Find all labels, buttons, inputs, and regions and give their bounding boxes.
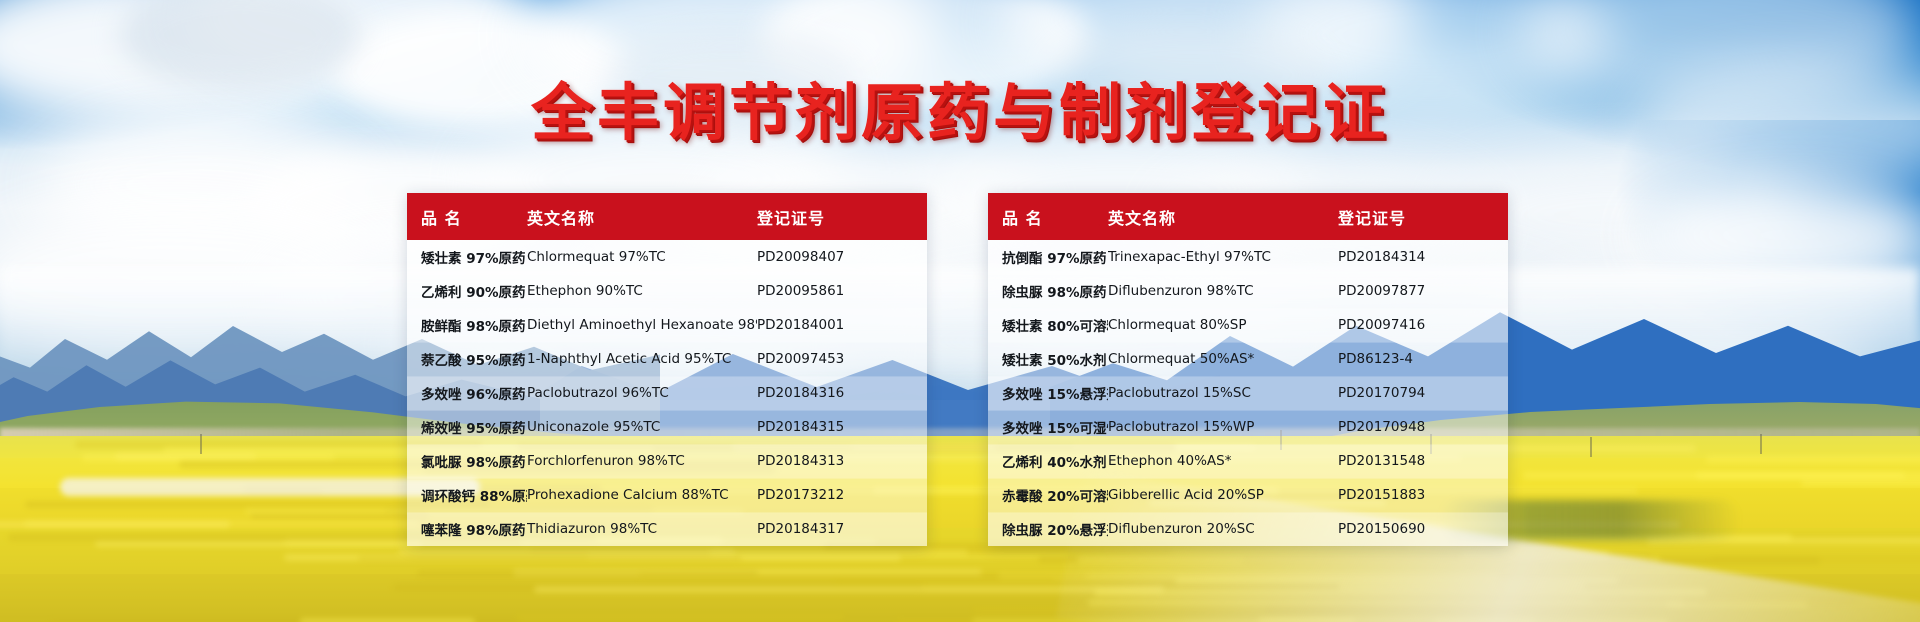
field-streak bbox=[639, 573, 1087, 580]
cell-english-name: Ethephon 90%TC bbox=[527, 274, 757, 308]
power-pylon-5 bbox=[1760, 434, 1762, 454]
cell-product-name: 抗倒酯 97%原药 bbox=[988, 240, 1108, 274]
cell-product-name: 多效唑 15%可湿性粉剂 bbox=[988, 410, 1108, 444]
table-row: 矮壮素 97%原药Chlormequat 97%TCPD20098407 bbox=[407, 240, 927, 274]
table-row: 乙烯利 90%原药Ethephon 90%TCPD20095861 bbox=[407, 274, 927, 308]
cell-english-name: Ethephon 40%AS* bbox=[1108, 444, 1338, 478]
table-right-body: 抗倒酯 97%原药Trinexapac-Ethyl 97%TCPD2018431… bbox=[988, 240, 1508, 546]
cell-registration-no: PD20170794 bbox=[1338, 376, 1508, 410]
cell-registration-no: PD20097416 bbox=[1338, 308, 1508, 342]
table-header-row: 品 名 英文名称 登记证号 bbox=[407, 193, 927, 240]
cell-english-name: Prohexadione Calcium 88%TC bbox=[527, 478, 757, 512]
table-left: 品 名 英文名称 登记证号 矮壮素 97%原药Chlormequat 97%TC… bbox=[407, 193, 927, 546]
cell-english-name: Chlormequat 50%AS* bbox=[1108, 342, 1338, 376]
table-right: 品 名 英文名称 登记证号 抗倒酯 97%原药Trinexapac-Ethyl … bbox=[988, 193, 1508, 546]
cell-registration-no: PD20150690 bbox=[1338, 512, 1508, 546]
field-streak bbox=[95, 540, 422, 547]
field-streak bbox=[1711, 556, 1920, 563]
cell-registration-no: PD20151883 bbox=[1338, 478, 1508, 512]
cell-product-name: 除虫脲 98%原药 bbox=[988, 274, 1108, 308]
field-streak bbox=[300, 618, 475, 622]
cell-product-name: 调环酸钙 88%原药 bbox=[407, 478, 527, 512]
field-streak bbox=[1801, 479, 1920, 486]
cell-product-name: 除虫脲 20%悬浮剂 bbox=[988, 512, 1108, 546]
table-row: 多效唑 15%悬浮剂Paclobutrazol 15%SCPD20170794 bbox=[988, 376, 1508, 410]
cell-product-name: 噻苯隆 98%原药 bbox=[407, 512, 527, 546]
cell-registration-no: PD20184314 bbox=[1338, 240, 1508, 274]
column-header-product-name: 品 名 bbox=[407, 193, 527, 240]
cell-registration-no: PD20184313 bbox=[757, 444, 927, 478]
cell-english-name: Diflubenzuron 98%TC bbox=[1108, 274, 1338, 308]
table-row: 抗倒酯 97%原药Trinexapac-Ethyl 97%TCPD2018431… bbox=[988, 240, 1508, 274]
cell-product-name: 多效唑 96%原药 bbox=[407, 376, 527, 410]
cell-english-name: Diflubenzuron 20%SC bbox=[1108, 512, 1338, 546]
cell-product-name: 乙烯利 90%原药 bbox=[407, 274, 527, 308]
column-header-product-name: 品 名 bbox=[988, 193, 1108, 240]
cell-registration-no: PD20184316 bbox=[757, 376, 927, 410]
column-header-registration-no: 登记证号 bbox=[1338, 193, 1508, 240]
cell-registration-no: PD20170948 bbox=[1338, 410, 1508, 444]
table-row: 除虫脲 98%原药Diflubenzuron 98%TCPD20097877 bbox=[988, 274, 1508, 308]
cell-english-name: Paclobutrazol 15%WP bbox=[1108, 410, 1338, 444]
cell-registration-no: PD20184315 bbox=[757, 410, 927, 444]
field-streak bbox=[358, 555, 742, 562]
power-pylon-4 bbox=[1590, 437, 1592, 457]
column-header-english-name: 英文名称 bbox=[527, 193, 757, 240]
cell-registration-no: PD86123-4 bbox=[1338, 342, 1508, 376]
cell-english-name: Thidiazuron 98%TC bbox=[527, 512, 757, 546]
table-row: 乙烯利 40%水剂Ethephon 40%AS*PD20131548 bbox=[988, 444, 1508, 478]
cell-english-name: 1-Naphthyl Acetic Acid 95%TC bbox=[527, 342, 757, 376]
cell-product-name: 矮壮素 97%原药 bbox=[407, 240, 527, 274]
field-streak bbox=[1696, 472, 1920, 479]
table-row: 调环酸钙 88%原药Prohexadione Calcium 88%TCPD20… bbox=[407, 478, 927, 512]
field-streak bbox=[0, 521, 230, 528]
cell-product-name: 矮壮素 80%可溶粉剂 bbox=[988, 308, 1108, 342]
cell-product-name: 矮壮素 50%水剂 bbox=[988, 342, 1108, 376]
cell-registration-no: PD20184001 bbox=[757, 308, 927, 342]
table-row: 噻苯隆 98%原药Thidiazuron 98%TCPD20184317 bbox=[407, 512, 927, 546]
table-row: 矮壮素 80%可溶粉剂Chlormequat 80%SPPD20097416 bbox=[988, 308, 1508, 342]
table-row: 除虫脲 20%悬浮剂Diflubenzuron 20%SCPD20150690 bbox=[988, 512, 1508, 546]
cell-registration-no: PD20131548 bbox=[1338, 444, 1508, 478]
cell-english-name: Forchlorfenuron 98%TC bbox=[527, 444, 757, 478]
cell-registration-no: PD20173212 bbox=[757, 478, 927, 512]
table-row: 烯效唑 95%原药Uniconazole 95%TCPD20184315 bbox=[407, 410, 927, 444]
table-row: 萘乙酸 95%原药1-Naphthyl Acetic Acid 95%TCPD2… bbox=[407, 342, 927, 376]
table-row: 多效唑 96%原药Paclobutrazol 96%TCPD20184316 bbox=[407, 376, 927, 410]
cell-english-name: Uniconazole 95%TC bbox=[527, 410, 757, 444]
cell-product-name: 乙烯利 40%水剂 bbox=[988, 444, 1108, 478]
column-header-registration-no: 登记证号 bbox=[757, 193, 927, 240]
power-pylon-1 bbox=[200, 434, 202, 454]
cell-product-name: 氯吡脲 98%原药 bbox=[407, 444, 527, 478]
table-right-header: 品 名 英文名称 登记证号 bbox=[988, 193, 1508, 240]
cell-product-name: 烯效唑 95%原药 bbox=[407, 410, 527, 444]
cell-registration-no: PD20095861 bbox=[757, 274, 927, 308]
cell-english-name: Diethyl Aminoethyl Hexanoate 98%TC bbox=[527, 308, 757, 342]
cell-registration-no: PD20097453 bbox=[757, 342, 927, 376]
cell-product-name: 赤霉酸 20%可溶粉剂 bbox=[988, 478, 1108, 512]
cell-registration-no: PD20097877 bbox=[1338, 274, 1508, 308]
cell-english-name: Chlormequat 80%SP bbox=[1108, 308, 1338, 342]
cell-english-name: Gibberellic Acid 20%SP bbox=[1108, 478, 1338, 512]
page-title: 全丰调节剂原药与制剂登记证 bbox=[0, 62, 1920, 152]
cell-english-name: Paclobutrazol 96%TC bbox=[527, 376, 757, 410]
table-row: 胺鲜酯 98%原药Diethyl Aminoethyl Hexanoate 98… bbox=[407, 308, 927, 342]
cell-product-name: 多效唑 15%悬浮剂 bbox=[988, 376, 1108, 410]
field-streak bbox=[516, 614, 843, 621]
field-streak bbox=[1706, 456, 1920, 463]
cell-english-name: Trinexapac-Ethyl 97%TC bbox=[1108, 240, 1338, 274]
registration-table-right: 品 名 英文名称 登记证号 抗倒酯 97%原药Trinexapac-Ethyl … bbox=[988, 193, 1508, 546]
cell-english-name: Chlormequat 97%TC bbox=[527, 240, 757, 274]
field-streak bbox=[82, 454, 335, 461]
cell-product-name: 胺鲜酯 98%原药 bbox=[407, 308, 527, 342]
table-row: 氯吡脲 98%原药Forchlorfenuron 98%TCPD20184313 bbox=[407, 444, 927, 478]
table-left-body: 矮壮素 97%原药Chlormequat 97%TCPD20098407乙烯利 … bbox=[407, 240, 927, 546]
registration-table-left: 品 名 英文名称 登记证号 矮壮素 97%原药Chlormequat 97%TC… bbox=[407, 193, 927, 546]
field-streak bbox=[709, 549, 968, 556]
cell-english-name: Paclobutrazol 15%SC bbox=[1108, 376, 1338, 410]
table-row: 矮壮素 50%水剂Chlormequat 50%AS*PD86123-4 bbox=[988, 342, 1508, 376]
cell-registration-no: PD20098407 bbox=[757, 240, 927, 274]
table-row: 多效唑 15%可湿性粉剂Paclobutrazol 15%WPPD2017094… bbox=[988, 410, 1508, 444]
table-header-row: 品 名 英文名称 登记证号 bbox=[988, 193, 1508, 240]
cell-registration-no: PD20184317 bbox=[757, 512, 927, 546]
table-row: 赤霉酸 20%可溶粉剂Gibberellic Acid 20%SPPD20151… bbox=[988, 478, 1508, 512]
cell-product-name: 萘乙酸 95%原药 bbox=[407, 342, 527, 376]
table-left-header: 品 名 英文名称 登记证号 bbox=[407, 193, 927, 240]
column-header-english-name: 英文名称 bbox=[1108, 193, 1338, 240]
